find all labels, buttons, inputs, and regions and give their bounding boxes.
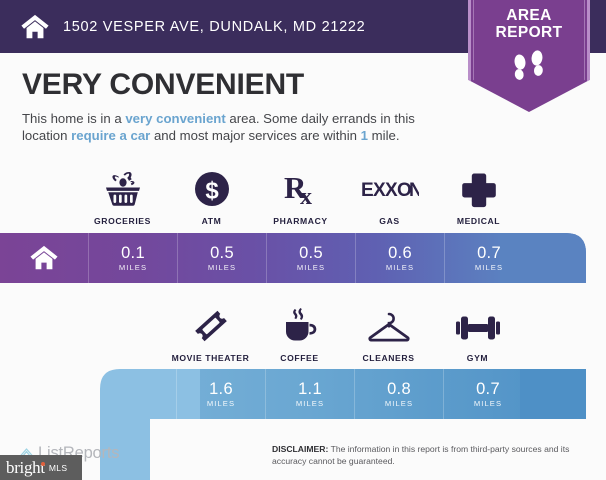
category-label: PHARMACY	[273, 216, 327, 226]
distance-value: 0.7	[477, 244, 501, 262]
distance-row-1: 0.1 MILES 0.5 MILES 0.5 MILES 0.6 MILES …	[88, 233, 533, 283]
distance-unit: MILES	[385, 399, 413, 408]
distance-cell-cleaners: 0.8 MILES	[355, 369, 443, 419]
blurb-highlight-3: 1	[361, 128, 368, 143]
badge-title-line1: AREA	[468, 7, 590, 24]
distance-value: 0.7	[476, 380, 500, 398]
distance-unit: MILES	[297, 263, 325, 272]
coffee-cup-icon	[280, 305, 320, 345]
category-pharmacy: R x PHARMACY	[256, 168, 345, 226]
dumbbell-icon	[456, 305, 500, 345]
distance-value: 1.1	[298, 380, 322, 398]
home-icon	[29, 244, 59, 272]
category-movie-theater: MOVIE THEATER	[166, 305, 255, 363]
blurb-part1: This home is in a	[22, 111, 125, 126]
category-gas: E X X O N GAS	[345, 168, 434, 226]
category-groceries: GROCERIES	[78, 168, 167, 226]
distance-cell-medical: 0.7 MILES	[445, 233, 533, 283]
blurb-part4: mile.	[368, 128, 400, 143]
dollar-coin-icon: $	[193, 168, 231, 208]
distance-value: 0.6	[388, 244, 412, 262]
distance-unit: MILES	[296, 399, 324, 408]
distance-unit: MILES	[119, 263, 147, 272]
category-icon-row-2: MOVIE THEATER COFFEE	[166, 305, 522, 363]
category-label: GROCERIES	[94, 216, 151, 226]
distance-cell-movie-theater: 1.6 MILES	[177, 369, 265, 419]
category-label: COFFEE	[280, 353, 318, 363]
summary-text: This home is in a very convenient area. …	[22, 110, 452, 144]
distance-value: 0.5	[210, 244, 234, 262]
category-label: MEDICAL	[457, 216, 500, 226]
distance-cell-atm: 0.5 MILES	[178, 233, 266, 283]
category-medical: MEDICAL	[434, 168, 523, 226]
footprints-icon	[507, 50, 551, 84]
rx-icon: R x	[281, 168, 321, 208]
category-label: ATM	[202, 216, 222, 226]
category-cleaners: CLEANERS	[344, 305, 433, 363]
bright-wordmark: bright	[6, 458, 45, 478]
category-gym: GYM	[433, 305, 522, 363]
movie-ticket-icon	[192, 305, 230, 345]
disclaimer-label: DISCLAIMER:	[272, 444, 328, 454]
blurb-highlight-1: very convenient	[125, 111, 225, 126]
distance-unit: MILES	[207, 399, 235, 408]
distance-value: 1.6	[209, 380, 233, 398]
distance-value: 0.1	[121, 244, 145, 262]
area-report-badge: AREA REPORT	[468, 0, 590, 112]
distance-unit: MILES	[474, 399, 502, 408]
home-icon	[20, 12, 50, 42]
blurb-part3: and most major services are within	[150, 128, 360, 143]
blurb-highlight-2: require a car	[71, 128, 150, 143]
distance-value: 0.5	[299, 244, 323, 262]
distance-cell-gas: 0.6 MILES	[356, 233, 444, 283]
exxon-logo-icon: E X X O N	[361, 168, 419, 208]
category-atm: $ ATM	[167, 168, 256, 226]
svg-text:E: E	[361, 180, 373, 201]
distance-value: 0.8	[387, 380, 411, 398]
distance-unit: MILES	[475, 263, 503, 272]
category-coffee: COFFEE	[255, 305, 344, 363]
distance-cell-coffee: 1.1 MILES	[266, 369, 354, 419]
badge-title: AREA REPORT	[468, 7, 590, 41]
distance-unit: MILES	[386, 263, 414, 272]
category-icon-row-1: GROCERIES $ ATM R x PHARMACY	[78, 168, 523, 226]
category-label: GYM	[467, 353, 488, 363]
svg-text:x: x	[300, 184, 312, 208]
disclaimer: DISCLAIMER: The information in this repo…	[272, 444, 600, 467]
distance-row-2: 1.6 MILES 1.1 MILES 0.8 MILES 0.7 MILES	[176, 369, 532, 419]
bright-mls-watermark: bright MLS	[0, 455, 82, 480]
medical-cross-icon	[461, 168, 497, 208]
area-report-infographic: 1502 VESPER AVE, DUNDALK, MD 21222 AREA …	[0, 0, 606, 480]
grocery-basket-icon	[103, 168, 143, 208]
clothes-hanger-icon	[367, 305, 411, 345]
home-marker	[0, 233, 88, 283]
mls-label: MLS	[49, 463, 68, 473]
distance-cell-gym: 0.7 MILES	[444, 369, 532, 419]
svg-text:N: N	[409, 180, 419, 201]
distance-unit: MILES	[208, 263, 236, 272]
property-address: 1502 VESPER AVE, DUNDALK, MD 21222	[63, 19, 365, 35]
svg-text:$: $	[205, 178, 219, 205]
page-title: VERY CONVENIENT	[22, 68, 304, 102]
bright-dot-icon	[41, 462, 45, 466]
distance-cell-groceries: 0.1 MILES	[89, 233, 177, 283]
category-label: MOVIE THEATER	[172, 353, 250, 363]
badge-title-line2: REPORT	[468, 24, 590, 41]
distance-cell-pharmacy: 0.5 MILES	[267, 233, 355, 283]
category-label: GAS	[379, 216, 399, 226]
category-label: CLEANERS	[362, 353, 414, 363]
